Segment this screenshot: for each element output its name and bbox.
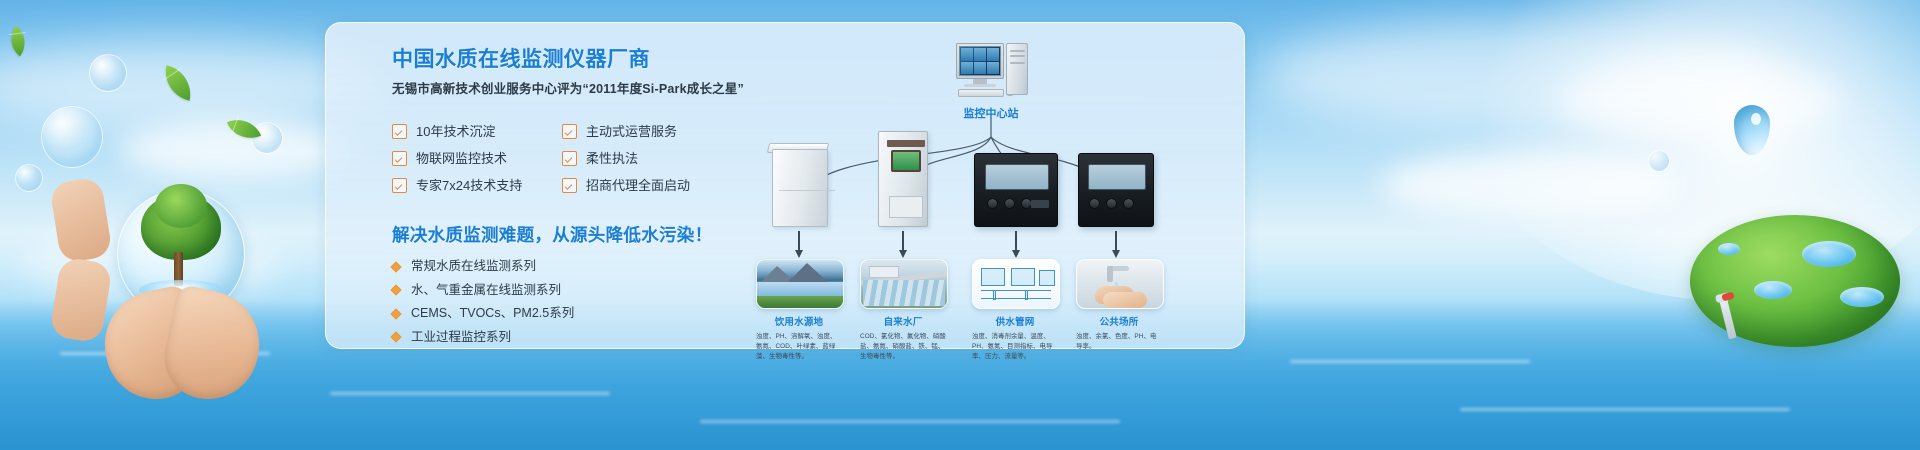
green-earth-icon: [1690, 215, 1900, 365]
checkbox-icon: [562, 178, 577, 193]
monitor-base: [964, 84, 996, 87]
feature-item: 10年技术沉淀: [392, 124, 562, 139]
down-arrow-icon: [1015, 231, 1017, 251]
checkbox-icon: [392, 178, 407, 193]
bubbles-icon: [1648, 150, 1670, 172]
diamond-bullet-icon: [390, 285, 401, 296]
bubbles-icon: [89, 54, 127, 92]
application-label: 自来水厂: [860, 314, 946, 328]
lcd-analyzer-icon: [974, 153, 1058, 227]
feature-label: 物联网监控技术: [416, 152, 507, 165]
keyboard: [958, 89, 1004, 97]
cloud: [1560, 60, 1840, 140]
series-list: 常规水质在线监测系列 水、气重金属在线监测系列 CEMS、TVOCs、PM2.5…: [392, 260, 752, 343]
application-card[interactable]: 公共场所 浊度、余氯、色度、PH、电导率。: [1076, 259, 1162, 352]
monitor: [956, 43, 1004, 79]
feature-item: 主动式运营服务: [562, 124, 732, 139]
feature-list: 10年技术沉淀 主动式运营服务 物联网监控技术 柔性执法 专家7x24技术支持: [392, 124, 752, 193]
checkbox-icon: [392, 151, 407, 166]
application-desc: 浊度、余氯、色度、PH、电导率。: [1076, 332, 1162, 352]
diamond-bullet-icon: [390, 308, 401, 319]
bubbles-icon: [41, 106, 103, 168]
diamond-bullet-icon: [390, 332, 401, 343]
down-arrow-icon: [902, 231, 904, 251]
application-card[interactable]: 自来水厂 COD、氯化物、氟化物、硝酸盐、氨氮、硝酸盐、铁、锰、生物毒性等。: [860, 259, 946, 362]
feature-label: 主动式运营服务: [586, 125, 677, 138]
desktop-computer-icon: [956, 43, 1030, 99]
text-column: 中国水质在线监测仪器厂商 无锡市高新技术创业服务中心评为“2011年度Si-Pa…: [392, 47, 752, 343]
right-wrist: [49, 256, 113, 343]
list-item[interactable]: 工业过程监控系列: [392, 331, 752, 344]
feature-item: 招商代理全面启动: [562, 178, 732, 193]
down-arrow-icon: [798, 231, 800, 251]
application-card[interactable]: 供水管网 浊度、消毒剂余量、温度、PH、氨氮、目测指标、电导率、压力、流量等。: [972, 259, 1058, 362]
bubbles-icon: [15, 164, 43, 192]
pc-tower: [1006, 43, 1028, 95]
series-label: 水、气重金属在线监测系列: [411, 284, 561, 297]
series-label: CEMS、TVOCs、PM2.5系列: [411, 307, 574, 320]
checkbox-icon: [562, 124, 577, 139]
application-card[interactable]: 饮用水源地 浊度、PH、溶解氧、浊度、氨氮、COD、叶绿素、蓝绿藻、生物毒性等。: [756, 259, 842, 362]
checkbox-icon: [562, 151, 577, 166]
tree-canopy-top: [155, 184, 207, 228]
down-arrow-icon: [1115, 231, 1117, 251]
system-diagram: 监控中心站: [756, 31, 1226, 351]
feature-label: 专家7x24技术支持: [416, 179, 522, 192]
water-monitoring-banner: 中国水质在线监测仪器厂商 无锡市高新技术创业服务中心评为“2011年度Si-Pa…: [0, 0, 1920, 450]
lcd-controller-icon: [1078, 153, 1154, 227]
list-item[interactable]: 常规水质在线监测系列: [392, 260, 752, 273]
faucet-photo: [1076, 259, 1164, 309]
page-title: 中国水质在线监测仪器厂商: [392, 47, 752, 72]
feature-item: 专家7x24技术支持: [392, 178, 562, 193]
river-source-photo: [756, 259, 844, 309]
cloud: [1380, 150, 1680, 220]
feature-label: 10年技术沉淀: [416, 125, 495, 138]
list-item[interactable]: 水、气重金属在线监测系列: [392, 284, 752, 297]
feature-item: 柔性执法: [562, 151, 732, 166]
series-label: 工业过程监控系列: [411, 331, 511, 344]
content-card: 中国水质在线监测仪器厂商 无锡市高新技术创业服务中心评为“2011年度Si-Pa…: [325, 22, 1245, 349]
feature-label: 柔性执法: [586, 152, 638, 165]
hands-holding-tree-decoration: [55, 180, 345, 450]
cabinet-sampler-icon: [874, 131, 932, 227]
left-wrist: [49, 176, 113, 263]
screen: [959, 46, 1001, 76]
series-label: 常规水质在线监测系列: [411, 260, 536, 273]
cabinet-analyzer-icon: [766, 141, 832, 227]
list-item[interactable]: CEMS、TVOCs、PM2.5系列: [392, 307, 752, 320]
checkbox-icon: [392, 124, 407, 139]
section-heading: 解决水质监测难题，从源头降低水污染！: [392, 222, 752, 247]
application-label: 公共场所: [1076, 314, 1162, 328]
application-desc: 浊度、PH、溶解氧、浊度、氨氮、COD、叶绿素、蓝绿藻、生物毒性等。: [756, 332, 842, 362]
application-label: 供水管网: [972, 314, 1058, 328]
feature-item: 物联网监控技术: [392, 151, 562, 166]
application-desc: 浊度、消毒剂余量、温度、PH、氨氮、目测指标、电导率、压力、流量等。: [972, 332, 1058, 362]
waterworks-photo: [860, 259, 948, 309]
globe-ball: [1690, 215, 1900, 347]
application-desc: COD、氯化物、氟化物、硝酸盐、氨氮、硝酸盐、铁、锰、生物毒性等。: [860, 332, 946, 362]
pipe-network-schematic: [972, 259, 1060, 309]
page-subtitle: 无锡市高新技术创业服务中心评为“2011年度Si-Park成长之星”: [392, 81, 752, 97]
feature-label: 招商代理全面启动: [586, 179, 690, 192]
application-label: 饮用水源地: [756, 314, 842, 328]
diamond-bullet-icon: [390, 261, 401, 272]
monitoring-center-label: 监控中心站: [916, 105, 1066, 121]
